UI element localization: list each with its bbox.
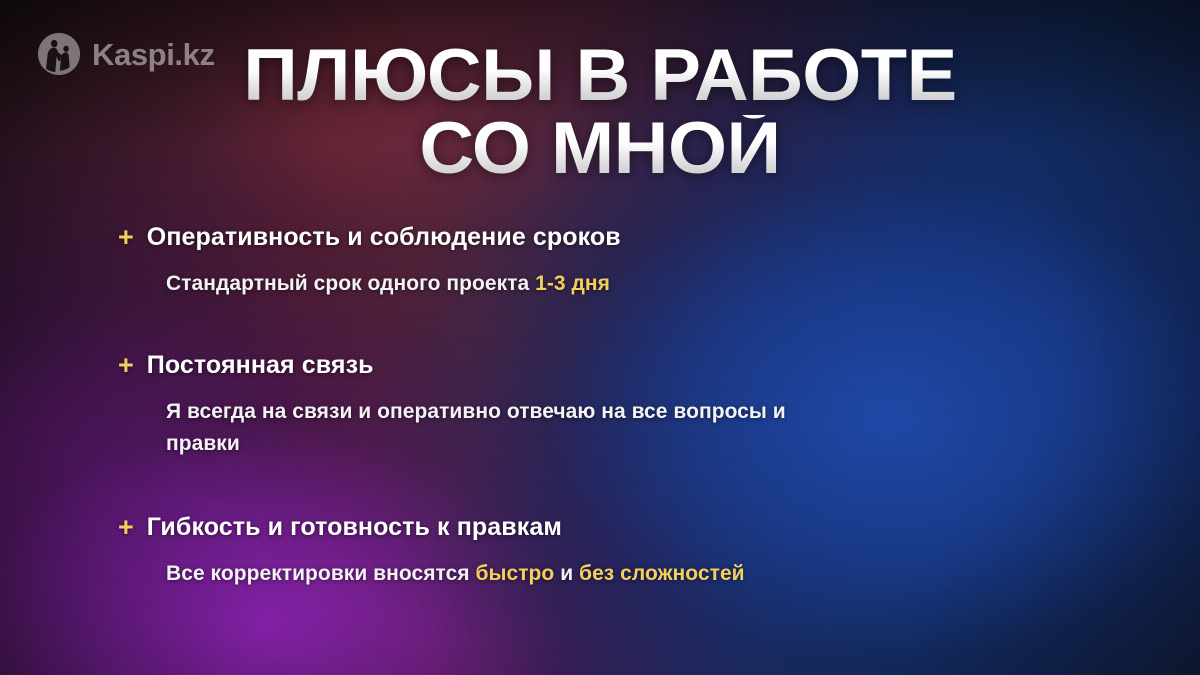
list-item-title: Оперативность и соблюдение сроков <box>147 222 621 252</box>
list-item-description: Все корректировки вносятся быстро и без … <box>166 558 806 590</box>
benefits-list: + Оперативность и соблюдение сроков Стан… <box>118 222 900 590</box>
page-title-line-1: ПЛЮСЫ В РАБОТЕ <box>18 42 1183 109</box>
description-highlight: быстро <box>475 562 554 585</box>
description-text: Стандартный срок одного проекта <box>166 272 535 295</box>
description-text: Все корректировки вносятся <box>166 562 475 585</box>
plus-icon: + <box>118 224 134 251</box>
description-highlight: 1-3 дня <box>535 272 610 295</box>
list-item-description: Я всегда на связи и оперативно отвечаю н… <box>166 396 806 460</box>
list-item-heading: + Гибкость и готовность к правкам <box>118 512 900 542</box>
list-item: + Гибкость и готовность к правкам Все ко… <box>118 512 900 590</box>
plus-icon: + <box>118 514 134 541</box>
page-title: ПЛЮСЫ В РАБОТЕ СО МНОЙ <box>0 42 1200 182</box>
list-item: + Оперативность и соблюдение сроков Стан… <box>118 222 900 300</box>
description-highlight: без сложностей <box>579 562 745 585</box>
page-title-line-2: СО МНОЙ <box>18 115 1183 182</box>
description-text: Я всегда на связи и оперативно отвечаю н… <box>166 400 786 455</box>
list-item: + Постоянная связь Я всегда на связи и о… <box>118 350 900 460</box>
list-item-heading: + Постоянная связь <box>118 350 900 380</box>
list-item-title: Гибкость и готовность к правкам <box>147 512 562 542</box>
plus-icon: + <box>118 352 134 379</box>
list-item-heading: + Оперативность и соблюдение сроков <box>118 222 900 252</box>
slide-canvas: Kaspi.kz ПЛЮСЫ В РАБОТЕ СО МНОЙ + Операт… <box>0 0 1200 675</box>
list-item-title: Постоянная связь <box>147 350 374 380</box>
slide-content: Kaspi.kz ПЛЮСЫ В РАБОТЕ СО МНОЙ + Операт… <box>0 0 1200 675</box>
list-item-description: Стандартный срок одного проекта 1-3 дня <box>166 268 806 300</box>
description-text: и <box>554 562 579 585</box>
